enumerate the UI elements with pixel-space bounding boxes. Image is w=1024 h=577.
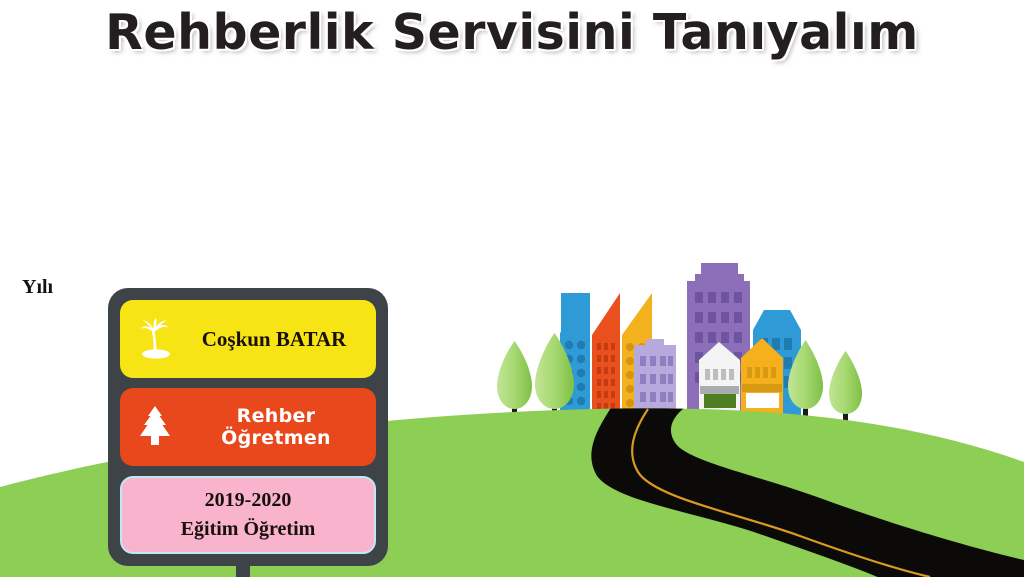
sign-panel-role-label: Rehber Öğretmen <box>182 405 376 449</box>
palm-tree-island-icon <box>128 318 182 360</box>
slide-canvas: Rehberlik Servisini Tanıyalım <box>0 0 1024 577</box>
sign-panel-name-label: Coşkun BATAR <box>182 327 376 352</box>
sign-panel-year[interactable]: 2019-2020 Eğitim Öğretim <box>120 476 376 554</box>
sign-panel-year-line2: Eğitim Öğretim <box>122 515 374 544</box>
sign-panel-role[interactable]: Rehber Öğretmen <box>120 388 376 466</box>
city-skyline <box>560 263 801 416</box>
pine-tree-icon <box>128 405 182 449</box>
signboard: Coşkun BATAR Rehber Öğretmen 2019-2020 E… <box>108 288 388 566</box>
sign-panel-name[interactable]: Coşkun BATAR <box>120 300 376 378</box>
page-title: Rehberlik Servisini Tanıyalım <box>0 4 1024 61</box>
sign-panel-year-line1: 2019-2020 <box>122 486 374 515</box>
sign-panel-year-line3: Yılı <box>22 276 53 299</box>
building-lavender <box>634 339 676 416</box>
building-orange-tower <box>592 293 620 416</box>
